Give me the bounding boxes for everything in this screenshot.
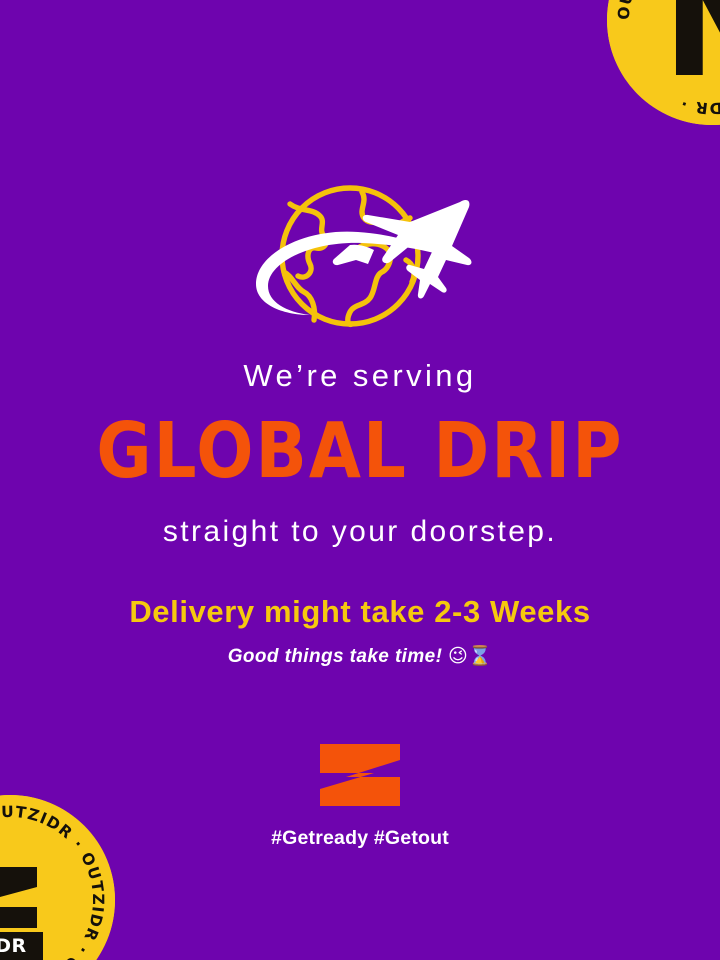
brand-seal-top-right: OUTZIDR · OUTZIDR · OUTZIDR · OUTZIDR · …	[607, 0, 720, 125]
brand-z-logo	[320, 744, 400, 806]
footer-brand: #Getready #Getout	[0, 744, 720, 849]
reassurance-line: Good things take time! 😉⌛	[0, 647, 720, 666]
seal-big-letter: N	[662, 0, 720, 111]
subline-text: straight to your doorstep.	[0, 517, 720, 547]
reassurance-text: Good things take time!	[228, 646, 443, 667]
reassurance-emoji: 😉⌛	[448, 645, 492, 667]
delivery-notice: Delivery might take 2-3 Weeks	[0, 596, 720, 627]
globe-plane-illustration	[238, 176, 482, 344]
copy-block: We’re serving GLOBAL DRIP straight to yo…	[0, 360, 720, 666]
seal-inner-logo: OUTZIDR	[0, 867, 43, 960]
brand-z-shape	[320, 744, 400, 806]
hashtags-text: #Getready #Getout	[0, 829, 720, 849]
page-title: GLOBAL DRIP	[0, 413, 720, 490]
seal-inner-wordmark: OUTZIDR	[0, 935, 27, 957]
eyebrow-text: We’re serving	[0, 360, 720, 391]
poster-canvas: OUTZIDR · OUTZIDR · OUTZIDR · OUTZIDR · …	[0, 0, 720, 960]
